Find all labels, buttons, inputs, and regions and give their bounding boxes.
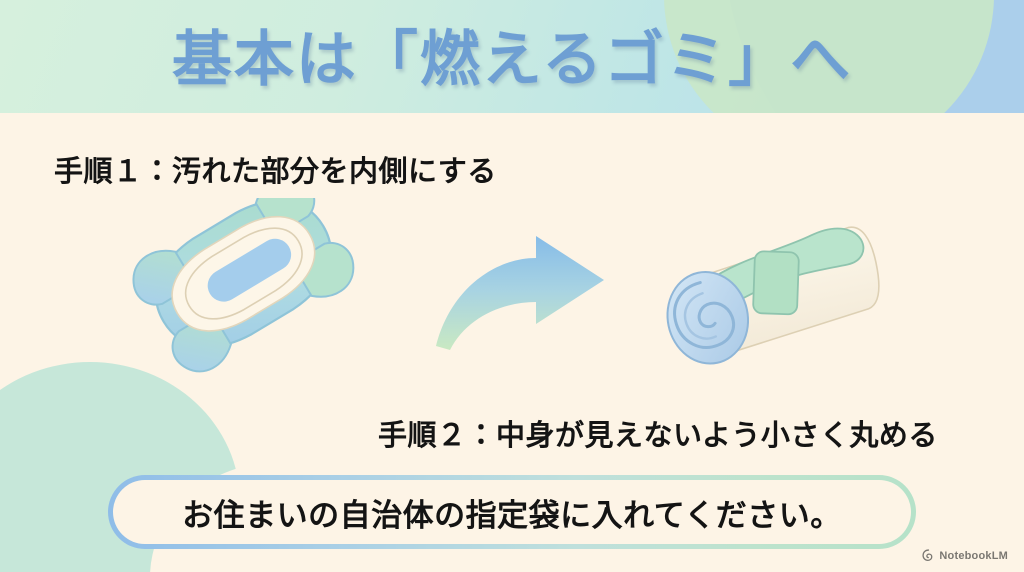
callout-inner: お住まいの自治体の指定袋に入れてください。 bbox=[113, 480, 911, 544]
notebooklm-spiral-icon bbox=[922, 549, 935, 562]
callout-box: お住まいの自治体の指定袋に入れてください。 bbox=[108, 475, 916, 549]
slide-canvas: 基本は「燃えるゴミ」へ 手順１：汚れた部分を内側にする bbox=[0, 0, 1024, 572]
step-2-caption: 手順２：中身が見えないよう小さく丸める bbox=[378, 412, 938, 454]
sanitary-pad-illustration bbox=[108, 198, 408, 403]
curved-right-arrow-icon bbox=[432, 232, 617, 354]
watermark-label: NotebookLM bbox=[939, 550, 1008, 562]
title-band: 基本は「燃えるゴミ」へ bbox=[0, 0, 1024, 113]
rolled-pad-illustration bbox=[652, 222, 902, 382]
notebooklm-watermark: NotebookLM bbox=[922, 549, 1008, 562]
page-title: 基本は「燃えるゴミ」へ bbox=[172, 11, 852, 98]
step-1-caption: 手順１：汚れた部分を内側にする bbox=[54, 148, 497, 190]
callout-text: お住まいの自治体の指定袋に入れてください。 bbox=[182, 490, 842, 535]
